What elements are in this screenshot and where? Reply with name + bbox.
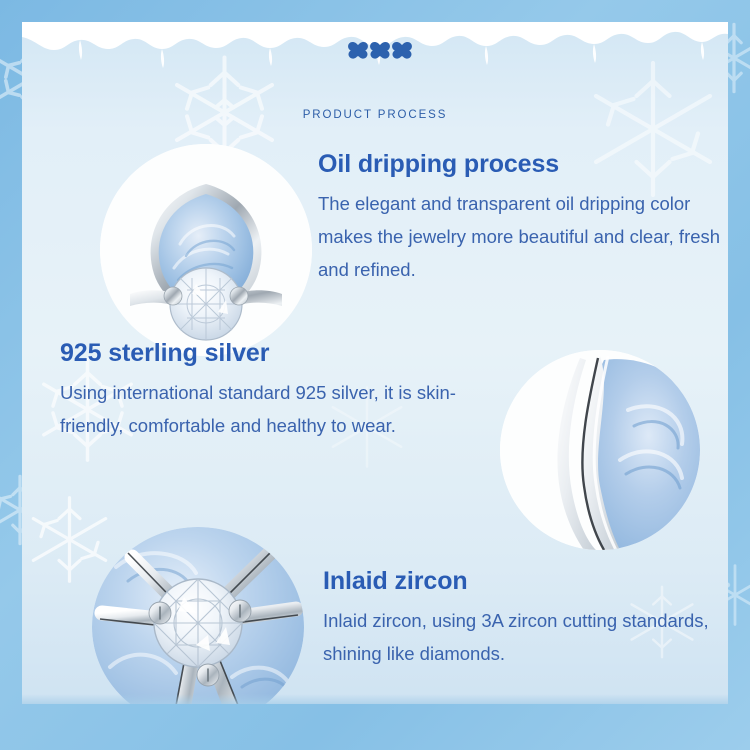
section-body-zircon: Inlaid zircon, using 3A zircon cutting s…	[323, 605, 728, 671]
product-process-poster: PRODUCT PROCESS	[0, 0, 750, 750]
jewelry-photo-flower-with-zircon	[92, 527, 304, 704]
section-title-silver: 925 sterling silver	[60, 339, 500, 368]
jewelry-photo-oil-dripping-petal	[100, 144, 312, 356]
section-body-silver: Using international standard 925 silver,…	[60, 377, 500, 443]
butterfly-icon	[347, 41, 369, 61]
panel-bottom-gradient	[22, 694, 728, 704]
section-inlaid-zircon: Inlaid zircon Inlaid zircon, using 3A zi…	[323, 567, 728, 671]
snowflake-icon	[22, 492, 117, 587]
butterfly-icon	[391, 41, 413, 61]
section-oil-dripping: Oil dripping process The elegant and tra…	[318, 150, 728, 287]
section-title-oil: Oil dripping process	[318, 150, 728, 179]
poster-panel: PRODUCT PROCESS	[22, 22, 728, 704]
section-body-oil: The elegant and transparent oil dripping…	[318, 188, 728, 287]
jewelry-photo-silver-enamel-macro	[500, 350, 700, 550]
section-title-zircon: Inlaid zircon	[323, 567, 728, 596]
butterfly-icon	[369, 41, 391, 61]
section-eyebrow: PRODUCT PROCESS	[22, 109, 728, 121]
section-sterling-silver: 925 sterling silver Using international …	[60, 339, 500, 443]
butterfly-icon-row	[22, 38, 728, 61]
